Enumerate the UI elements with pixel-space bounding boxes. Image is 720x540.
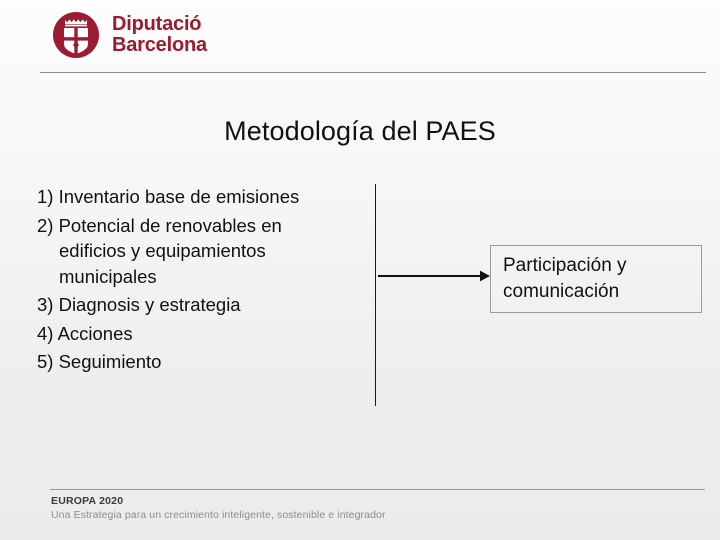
footer: EUROPA 2020 Una Estrategia para un creci… — [51, 494, 691, 523]
brand-line-1: Diputació — [112, 14, 207, 35]
outcome-line-1: Participación y — [503, 253, 701, 279]
brand-line-2: Barcelona — [112, 35, 207, 56]
outcome-line-2: comunicación — [503, 279, 701, 305]
list-item: 2) Potencial de renovables en edificios … — [37, 213, 362, 290]
page-title: Metodología del PAES — [0, 116, 720, 147]
footer-title: EUROPA 2020 — [51, 494, 691, 508]
footer-subtitle: Una Estrategia para un crecimiento intel… — [51, 508, 691, 523]
brand-logo: Diputació Barcelona — [52, 11, 207, 59]
diputacio-barcelona-crest-icon — [52, 11, 100, 59]
vertical-divider — [375, 184, 376, 406]
list-item: 5) Seguimiento — [37, 349, 362, 375]
list-item: 3) Diagnosis y estrategia — [37, 292, 362, 318]
list-item: 4) Acciones — [37, 321, 362, 347]
right-arrow-icon — [378, 266, 490, 286]
slide: Diputació Barcelona Metodología del PAES… — [0, 0, 720, 540]
brand-wordmark: Diputació Barcelona — [112, 14, 207, 56]
outcome-box: Participación y comunicación — [490, 245, 702, 313]
header-divider — [40, 72, 706, 73]
list-item: 1) Inventario base de emisiones — [37, 184, 362, 210]
footer-divider — [50, 489, 705, 490]
methodology-step-list: 1) Inventario base de emisiones 2) Poten… — [37, 184, 362, 378]
